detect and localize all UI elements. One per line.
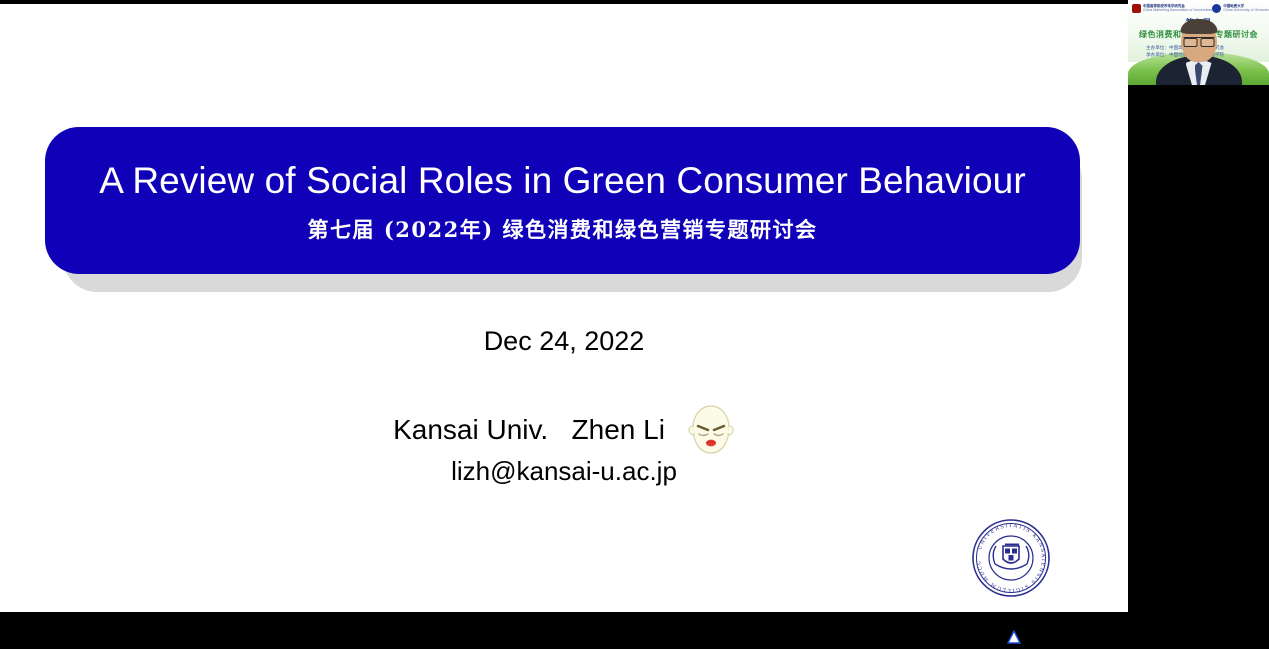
host-logo-right: 中国地质大学 China University of Geosciences: [1212, 4, 1269, 13]
host-logo-left: 中国高等院校市场学研究会 China Marketing Association…: [1132, 4, 1212, 13]
presenter-affiliation-and-name: Kansai Univ. Zhen Li: [393, 414, 665, 446]
host-logo-left-line2: China Marketing Association of Universit…: [1143, 8, 1212, 12]
kansai-university-seal-icon: UNIVERSITATIS KANSAIENSIS SIGILLUM MDCCC…: [969, 516, 1053, 600]
slide-date: Dec 24, 2022: [0, 326, 1128, 357]
slide-title: A Review of Social Roles in Green Consum…: [99, 161, 1026, 201]
webcam-backdrop-header: 中国高等院校市场学研究会 China Marketing Association…: [1128, 2, 1269, 14]
host-logo-left-text: 中国高等院校市场学研究会 China Marketing Association…: [1143, 4, 1212, 13]
slide-subtitle: 第七届 (2022年) 绿色消费和绿色营销专题研讨会: [308, 214, 818, 244]
cmau-logo-mark-icon: [1132, 4, 1141, 13]
person-glasses-icon: [1183, 37, 1214, 46]
cug-logo-mark-icon: [1212, 4, 1221, 13]
host-logo-right-text: 中国地质大学 China University of Geosciences: [1223, 4, 1269, 13]
webcam-person: [1154, 20, 1244, 85]
host-logo-right-line2: China University of Geosciences: [1223, 8, 1269, 12]
presenter-email: lizh@kansai-u.ac.jp: [0, 456, 1128, 487]
presenter-row: Kansai Univ. Zhen Li: [0, 404, 1128, 456]
mouse-pointer-icon: [1007, 630, 1021, 644]
slide-title-banner: A Review of Social Roles in Green Consum…: [45, 127, 1082, 292]
screen-share-view: A Review of Social Roles in Green Consum…: [0, 0, 1269, 638]
person-hair: [1180, 19, 1217, 34]
webcam-thumbnail[interactable]: 中国高等院校市场学研究会 China Marketing Association…: [1128, 0, 1269, 85]
presentation-slide[interactable]: A Review of Social Roles in Green Consum…: [0, 4, 1128, 612]
participant-panel[interactable]: 中国高等院校市场学研究会 China Marketing Association…: [1128, 0, 1269, 638]
cartoon-face-icon: [687, 404, 735, 456]
title-banner-body: A Review of Social Roles in Green Consum…: [45, 127, 1080, 274]
